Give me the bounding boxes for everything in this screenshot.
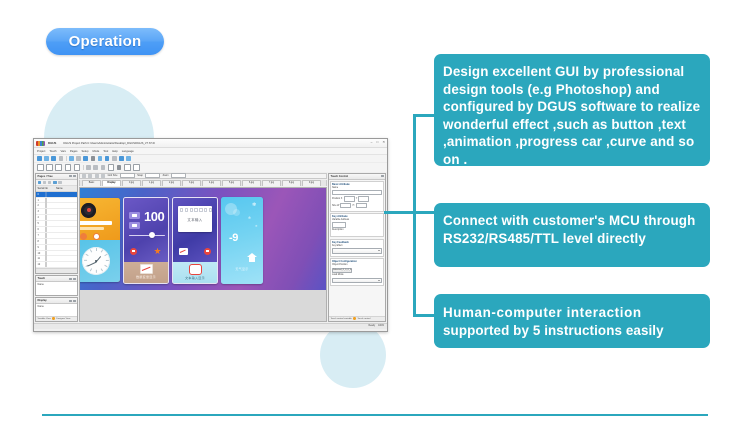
design-canvas[interactable]: 100 数据变量显示 <box>80 188 326 290</box>
canvas-tab[interactable]: 7.jpg <box>262 180 281 186</box>
property-row-object-position[interactable]: Object Position <box>332 264 382 266</box>
minus-button-icon[interactable] <box>130 248 137 255</box>
data-variable-icon <box>140 264 153 274</box>
row-serial: 11 <box>36 257 45 260</box>
select-load-mode[interactable] <box>332 278 382 284</box>
dgus-application-window[interactable]: DGUS DGUS Project Path:C:\Users\Administ… <box>33 138 388 332</box>
music-clock-card[interactable] <box>80 198 120 282</box>
canvas-tab[interactable]: Basic <box>82 180 101 186</box>
input-size-h[interactable] <box>356 203 367 208</box>
snap-label: Snap <box>137 174 143 177</box>
touch-panel-controls[interactable] <box>69 278 75 280</box>
text-input-card[interactable]: 文本输入 文本输入显示 <box>172 197 218 284</box>
menu-item-setup[interactable]: Setup <box>82 150 89 153</box>
open-file-icon[interactable] <box>44 156 49 161</box>
music-card-top <box>80 198 120 240</box>
pages-panel-footer <box>36 268 77 273</box>
main-toolbar-row-1[interactable] <box>34 155 387 163</box>
properties-statusbar: Touch control variable Touch control <box>329 316 385 321</box>
document-title: DGUS Project Path:C:\Users\Administrator… <box>63 142 366 145</box>
button-tool-icon[interactable] <box>65 164 72 171</box>
weather-card[interactable]: ❄ ❄ ❄ -9 天气显示 <box>221 197 263 284</box>
clock-minute-hand <box>87 261 96 266</box>
snowflake-icon-2: ❄ <box>248 217 251 221</box>
slider-knob[interactable] <box>149 232 155 238</box>
row-name-field <box>45 251 47 256</box>
canvas-tab[interactable]: 4.jpg <box>202 180 221 186</box>
menu-item-touch[interactable]: Touch <box>49 150 56 153</box>
row-name <box>45 234 77 237</box>
row-name-field <box>45 227 47 232</box>
properties-status-dot-icon <box>353 317 355 319</box>
label-description: Description <box>332 229 344 231</box>
property-row-description: Description <box>332 229 382 231</box>
row-name-field <box>45 203 47 208</box>
row-name-field <box>45 221 47 226</box>
input-variable-address[interactable] <box>332 222 346 227</box>
row-name-field <box>45 262 47 267</box>
canvas-tab[interactable]: 3.jpg <box>182 180 201 186</box>
row-name <box>45 216 77 219</box>
compile-icon[interactable] <box>126 156 131 161</box>
input-size-w[interactable] <box>340 203 351 208</box>
text-highlight-ring <box>189 264 202 275</box>
slider-value: 100 <box>144 210 164 223</box>
redo-icon[interactable] <box>98 156 103 161</box>
snap-input[interactable] <box>145 173 160 179</box>
display-panel-close-icon[interactable] <box>73 300 75 302</box>
display-panel-pin-icon[interactable] <box>69 300 71 302</box>
description-text <box>332 232 382 235</box>
properties-status-tag: Touch control <box>357 318 370 320</box>
callout-mcu-connection: Connect with customer's MCU through RS23… <box>434 203 710 267</box>
canvas-tab[interactable]: 0.jpg <box>122 180 141 186</box>
property-row-variable-address[interactable]: Variable Address <box>332 219 382 221</box>
weather-bubble-small <box>233 209 240 216</box>
canvas-tabstrip[interactable]: BasicDisplay0.jpg1.jpg2.jpg3.jpg4.jpg5.j… <box>79 180 327 186</box>
keyboard-keys-icon <box>180 208 212 212</box>
window-controls[interactable]: – □ ✕ <box>371 141 385 144</box>
menu-item-vars[interactable]: Vars <box>61 150 66 153</box>
slider-card-caption: 数据变量显示 <box>124 275 168 279</box>
canvas-tab[interactable]: 5.jpg <box>222 180 241 186</box>
dgus-logo-icon <box>36 141 45 146</box>
text-minus-button-icon[interactable] <box>204 248 211 255</box>
row-serial: 9 <box>36 246 45 249</box>
analog-clock-icon <box>82 247 110 275</box>
maximize-icon[interactable]: □ <box>376 141 378 144</box>
print-icon[interactable] <box>59 156 64 161</box>
canvas-viewport[interactable]: 100 数据变量显示 <box>79 187 327 322</box>
row-name <box>45 193 77 196</box>
row-name <box>45 246 77 249</box>
tab-designer-view[interactable]: Designer View <box>56 318 70 320</box>
panel-close-icon[interactable] <box>73 175 75 177</box>
row-name-field <box>45 198 47 203</box>
label-variable-address: Variable Address <box>332 219 349 221</box>
vinyl-disc-icon <box>81 203 96 218</box>
touch-panel-body[interactable]: Name <box>36 282 77 295</box>
property-row-key-effect[interactable]: Key Effect <box>332 245 382 247</box>
zoom-out-icon[interactable] <box>112 156 117 161</box>
group-title-key: Key Attribute <box>332 215 382 218</box>
pages-list[interactable]: 0123456789101112 <box>36 192 77 269</box>
property-group-key: Key Attribute Variable Address Descripti… <box>330 213 384 237</box>
add-page-icon[interactable] <box>38 181 42 185</box>
menu-item-project[interactable]: Project <box>37 150 45 153</box>
refresh-icon[interactable] <box>58 181 62 185</box>
text-tool-icon[interactable] <box>46 164 53 171</box>
touch-panel[interactable]: Touch Name <box>35 275 78 296</box>
properties-panel[interactable]: Touch Control Basic Attribute Name <box>328 173 386 322</box>
bottom-divider <box>42 414 708 416</box>
clock-card-bottom <box>80 240 120 282</box>
row-name <box>45 204 77 207</box>
group-title-basic: Basic Attribute <box>332 183 382 186</box>
preview-icon[interactable] <box>119 156 124 161</box>
properties-status-text: Touch control variable <box>331 318 352 320</box>
main-toolbar-row-2[interactable] <box>34 163 387 172</box>
callout-design-gui-text: Design excellent GUI by professional des… <box>443 63 701 169</box>
application-body: Pages / Tree Serial No <box>34 172 387 323</box>
panel-pin-icon[interactable] <box>69 175 71 177</box>
properties-panel-title: Touch Control <box>331 175 349 178</box>
home-icon <box>247 253 257 262</box>
canvas-tab[interactable]: Display <box>102 180 121 186</box>
menu-item-mode[interactable]: Mode <box>93 150 100 153</box>
row-name <box>45 222 77 225</box>
row-serial: 3 <box>36 210 45 213</box>
canvas-tab[interactable]: 1.jpg <box>142 180 161 186</box>
slider-card-footer: 数据变量显示 <box>124 262 168 284</box>
input-position-y[interactable] <box>358 196 369 201</box>
slide-canvas: Operation DGUS DGUS Project Path:C:\User… <box>0 0 750 421</box>
callout-mcu-connection-text: Connect with customer's MCU through RS23… <box>443 212 701 247</box>
row-name-field <box>45 245 47 250</box>
display-panel-body[interactable]: Name <box>36 304 77 315</box>
align-left-icon[interactable] <box>86 165 91 170</box>
callout-human-computer-interaction: Human-computer interaction supported by … <box>434 294 710 348</box>
button-object-position[interactable]: Selected_0_0_0_0 <box>332 268 352 274</box>
row-serial: 4 <box>36 216 45 219</box>
move-down-icon[interactable] <box>53 181 57 185</box>
group-icon[interactable] <box>108 164 115 171</box>
row-name-field <box>45 256 47 261</box>
row-serial: 5 <box>36 222 45 225</box>
label-position-y: Y <box>356 198 358 200</box>
operation-badge-label: Operation <box>69 33 142 50</box>
column-header-serial: Serial No <box>36 187 55 190</box>
label-size-h: H <box>353 205 355 207</box>
touch-panel-label: Name <box>36 282 77 287</box>
display-panel-title: Display <box>38 299 47 302</box>
property-row-name[interactable]: Name <box>332 187 382 189</box>
properties-body[interactable]: Basic Attribute Name Position X Y <box>329 180 385 316</box>
slider-tool-icon[interactable] <box>74 164 81 171</box>
row-name-field <box>45 239 47 244</box>
connector-vertical-line <box>413 114 416 317</box>
canvas-toolbar[interactable]: Grid Size Snap Zoom <box>79 173 327 179</box>
text-input-panel[interactable]: 文本输入 <box>178 206 212 232</box>
left-dock: Pages / Tree Serial No <box>35 173 78 322</box>
display-panel-controls[interactable] <box>69 300 75 302</box>
status-ready: Ready <box>368 325 375 327</box>
grid-size-label: Grid Size <box>108 174 118 177</box>
column-header-name: Name <box>55 187 78 190</box>
row-serial: 6 <box>36 228 45 231</box>
weather-temperature: -9 <box>229 233 238 244</box>
canvas-tab[interactable]: 2.jpg <box>162 180 181 186</box>
row-serial: 7 <box>36 234 45 237</box>
music-bar-primary <box>80 221 112 225</box>
menu-bar[interactable]: Project Touch Vars Pages Setup Mode Tool… <box>34 148 387 155</box>
row-serial: 2 <box>36 204 45 207</box>
menu-item-help[interactable]: Help <box>112 150 118 153</box>
zoom-input[interactable] <box>171 173 186 179</box>
copy-icon[interactable] <box>76 156 81 161</box>
cut-icon[interactable] <box>69 156 74 161</box>
pages-panel-title: Pages / Tree <box>38 175 53 178</box>
label-object-position: Object Position <box>332 264 347 266</box>
left-dock-footer-tabs[interactable]: Variable View Designer View <box>36 316 77 321</box>
slider-chip-b <box>129 222 140 229</box>
row-name <box>45 263 77 266</box>
toolbar-separator <box>66 156 67 161</box>
image-tool-icon[interactable] <box>55 164 62 171</box>
callout-hci-line-1: Human-computer interaction <box>443 304 701 322</box>
zoom-label: Zoom <box>163 174 169 177</box>
row-name-field <box>45 233 47 238</box>
property-row-position[interactable]: Position X Y <box>332 196 382 201</box>
label-load-mode: Load Mode <box>332 274 344 276</box>
menu-item-pages[interactable]: Pages <box>70 150 78 153</box>
canvas-tab[interactable]: 9.jpg <box>302 180 321 186</box>
touch-panel-close-icon[interactable] <box>73 278 75 280</box>
input-name[interactable] <box>332 190 382 195</box>
slider-track[interactable] <box>129 235 165 237</box>
text-card-main: 文本输入 <box>173 198 217 262</box>
zoom-in-icon[interactable] <box>105 156 110 161</box>
row-name <box>45 240 77 243</box>
property-row-size[interactable]: Size W H <box>332 203 382 208</box>
snap-icon[interactable] <box>133 164 140 171</box>
footer-tab-dot-icon <box>52 317 54 319</box>
grid-icon[interactable] <box>124 164 131 171</box>
application-statusbar: Ready 100% <box>34 323 387 329</box>
remove-page-icon[interactable] <box>43 181 47 185</box>
music-bar-secondary <box>80 227 104 230</box>
move-up-icon[interactable] <box>48 181 52 185</box>
label-key-effect: Key Effect <box>332 245 342 247</box>
tab-variable-view[interactable]: Variable View <box>38 318 51 320</box>
line-icon[interactable] <box>101 174 105 178</box>
display-panel-label: Name <box>36 304 77 309</box>
text-input-value: 文本输入 <box>178 217 212 222</box>
snowflake-icon-3: ❄ <box>255 225 258 228</box>
row-name <box>45 199 77 202</box>
select-tool-icon[interactable] <box>37 164 44 171</box>
lock-icon[interactable] <box>117 165 122 170</box>
hand-icon[interactable] <box>88 174 92 178</box>
rect-icon[interactable] <box>95 174 99 178</box>
text-chart-icon <box>179 248 188 255</box>
label-size-w: Size W <box>332 205 339 207</box>
label-position-x: Position X <box>332 198 342 200</box>
row-name <box>45 252 77 255</box>
slider-card[interactable]: 100 数据变量显示 <box>123 197 169 284</box>
center-column: Grid Size Snap Zoom BasicDisplay0.jpg1.j… <box>79 173 327 322</box>
row-serial: 0 <box>36 193 45 196</box>
callout-design-gui: Design excellent GUI by professional des… <box>434 54 710 166</box>
slider-card-main: 100 <box>124 198 168 262</box>
input-position-x[interactable] <box>344 196 355 201</box>
row-name <box>45 228 77 231</box>
minimize-icon[interactable]: – <box>371 141 373 144</box>
text-card-footer: 文本输入显示 <box>173 262 217 284</box>
undo-icon[interactable] <box>91 156 96 161</box>
panel-controls[interactable] <box>69 175 75 177</box>
touch-panel-title: Touch <box>38 277 46 280</box>
toolbar-separator-2 <box>83 165 84 170</box>
connector-stem <box>384 211 415 214</box>
row-serial: 10 <box>36 252 45 255</box>
row-name-field <box>45 192 47 197</box>
menu-item-tool[interactable]: Tool <box>103 150 108 153</box>
window-titlebar: DGUS DGUS Project Path:C:\Users\Administ… <box>34 139 387 148</box>
operation-badge: Operation <box>46 28 164 55</box>
group-title-object: Object Configuration <box>332 260 382 263</box>
grid-size-input[interactable] <box>120 173 135 179</box>
property-group-feedback: Key Feedback Key Effect <box>330 239 384 257</box>
canvas-empty-area[interactable] <box>80 290 326 321</box>
right-dock: Touch Control Basic Attribute Name <box>328 173 386 322</box>
callout-hci-line-2: supported by 5 instructions easily <box>443 322 701 340</box>
paste-icon[interactable] <box>83 156 88 161</box>
property-group-object: Object Configuration Object Position Sel… <box>330 258 384 286</box>
play-button-icon[interactable] <box>80 233 87 240</box>
canvas-tab[interactable]: 6.jpg <box>242 180 261 186</box>
menu-item-language[interactable]: Language <box>122 150 134 153</box>
connector-bracket <box>384 100 440 328</box>
row-name <box>45 257 77 260</box>
star-icon <box>154 248 161 255</box>
row-serial: 8 <box>36 240 45 243</box>
group-title-feedback: Key Feedback <box>332 241 382 244</box>
slider-chip-a <box>129 212 140 219</box>
row-name <box>45 210 77 213</box>
row-name-field <box>45 215 47 220</box>
row-name-field <box>45 209 47 214</box>
label-name: Name <box>332 187 338 189</box>
align-center-icon[interactable] <box>93 165 98 170</box>
touch-panel-pin-icon[interactable] <box>69 278 71 280</box>
row-serial: 1 <box>36 199 45 202</box>
stop-button-icon[interactable] <box>93 233 100 240</box>
application-name: DGUS <box>48 141 56 145</box>
save-icon[interactable] <box>51 156 56 161</box>
canvas-tab[interactable]: 8.jpg <box>282 180 301 186</box>
snowflake-icon-1: ❄ <box>252 203 256 208</box>
new-file-icon[interactable] <box>37 156 42 161</box>
text-card-caption: 文本输入显示 <box>173 276 217 280</box>
align-right-icon[interactable] <box>101 165 106 170</box>
pages-tree-panel[interactable]: Pages / Tree Serial No <box>35 173 78 275</box>
display-panel[interactable]: Display Name Variable View Designer View <box>35 297 78 321</box>
weather-card-caption: 天气显示 <box>221 267 263 271</box>
select-key-effect[interactable] <box>332 248 382 254</box>
pointer-icon[interactable] <box>82 174 86 178</box>
property-row-load-mode[interactable]: Load Mode <box>332 274 382 276</box>
row-serial: 12 <box>36 263 45 266</box>
clock-center-pin <box>95 260 97 262</box>
property-group-basic: Basic Attribute Name Position X Y <box>330 181 384 212</box>
